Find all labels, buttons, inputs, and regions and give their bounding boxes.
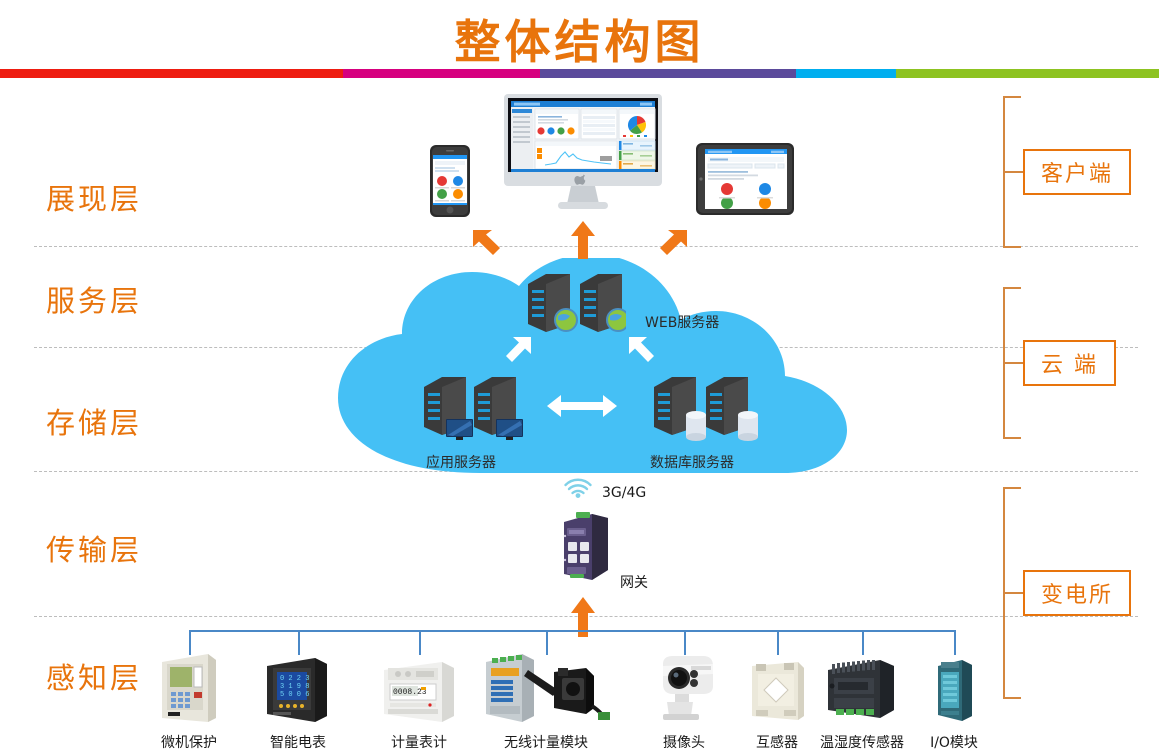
arrow-sensor-to-gateway xyxy=(570,596,596,643)
arrow-db-to-web xyxy=(626,334,662,375)
layer-label-presentation: 展现层 xyxy=(46,176,142,218)
bracket-substation: 变电所 xyxy=(1003,487,1153,699)
color-bar-red xyxy=(0,69,343,78)
layer-label-transport: 传输层 xyxy=(46,527,142,569)
layer-label-storage: 存储层 xyxy=(46,400,142,442)
svg-text:5 0 0 6: 5 0 0 6 xyxy=(280,691,309,699)
color-bar-cyan xyxy=(796,69,896,78)
device-smart-meter[interactable]: 0 2 2 3 3 1 9 8 5 0 0 6 智能电表 xyxy=(233,652,363,752)
color-bar-purple xyxy=(540,69,796,78)
gateway-label: 网关 xyxy=(620,572,648,592)
web-server-icon xyxy=(524,272,626,339)
diagram-canvas: 整体结构图 展现层服务层存储层传输层感知层 客户端云 端变电所 xyxy=(0,0,1159,745)
device-wireless-module[interactable]: 无线计量模块 xyxy=(481,652,611,752)
arrow-cloud-to-desktop xyxy=(570,220,596,265)
bracket-cloud: 云 端 xyxy=(1003,287,1153,439)
bracket-stem xyxy=(1003,362,1025,364)
metering-device-icon: 0008.23 xyxy=(354,652,484,724)
app-server-icon xyxy=(420,375,528,452)
arrow-cloud-to-phone xyxy=(471,226,505,265)
bracket-stem xyxy=(1003,171,1025,173)
title-color-bar xyxy=(0,69,1159,78)
page-title: 整体结构图 xyxy=(0,6,1159,72)
svg-text:0 2 2 3: 0 2 2 3 xyxy=(280,675,309,683)
signal-label: 3G/4G xyxy=(602,485,646,501)
device-label-smart-meter: 智能电表 xyxy=(233,732,363,752)
io-module-icon xyxy=(889,652,1019,724)
layer-label-service: 服务层 xyxy=(46,278,142,320)
bracket-cap-bottom xyxy=(1003,246,1021,248)
device-label-io-module: I/O模块 xyxy=(889,732,1019,752)
bracket-cap-top xyxy=(1003,287,1021,289)
client-tablet xyxy=(695,142,795,221)
color-bar-green xyxy=(896,69,1159,78)
wifi-signal-icon xyxy=(563,478,593,505)
arrow-cloud-to-tablet xyxy=(655,226,689,265)
bracket-cap-top xyxy=(1003,487,1021,489)
arrow-app-to-web xyxy=(498,334,534,375)
sensor-bus-horizontal xyxy=(189,630,954,632)
bracket-cap-bottom xyxy=(1003,437,1021,439)
color-bar-magenta xyxy=(343,69,540,78)
device-label-metering-device: 计量表计 xyxy=(354,732,484,752)
device-io-module[interactable]: I/O模块 xyxy=(889,652,1019,752)
web-server-label: WEB服务器 xyxy=(645,312,719,332)
bracket-stem xyxy=(1003,592,1025,594)
client-desktop xyxy=(504,94,662,217)
db-server-label: 数据库服务器 xyxy=(650,452,734,472)
app-server-label: 应用服务器 xyxy=(426,452,496,472)
gateway-device-icon xyxy=(556,508,616,591)
bidirectional-arrow xyxy=(545,392,619,425)
zone-box-substation[interactable]: 变电所 xyxy=(1023,570,1131,616)
svg-text:3 1 9 8: 3 1 9 8 xyxy=(280,683,309,691)
db-server-icon xyxy=(650,375,760,452)
zone-box-cloud[interactable]: 云 端 xyxy=(1023,340,1116,386)
zone-box-client[interactable]: 客户端 xyxy=(1023,149,1131,195)
client-smartphone xyxy=(429,144,471,223)
bracket-cap-top xyxy=(1003,96,1021,98)
device-label-wireless-module: 无线计量模块 xyxy=(481,732,611,752)
smart-meter-icon: 0 2 2 3 3 1 9 8 5 0 0 6 xyxy=(233,652,363,724)
wireless-module-icon xyxy=(481,652,611,724)
device-metering-device[interactable]: 0008.23 计量表计 xyxy=(354,652,484,752)
bracket-client: 客户端 xyxy=(1003,96,1153,248)
